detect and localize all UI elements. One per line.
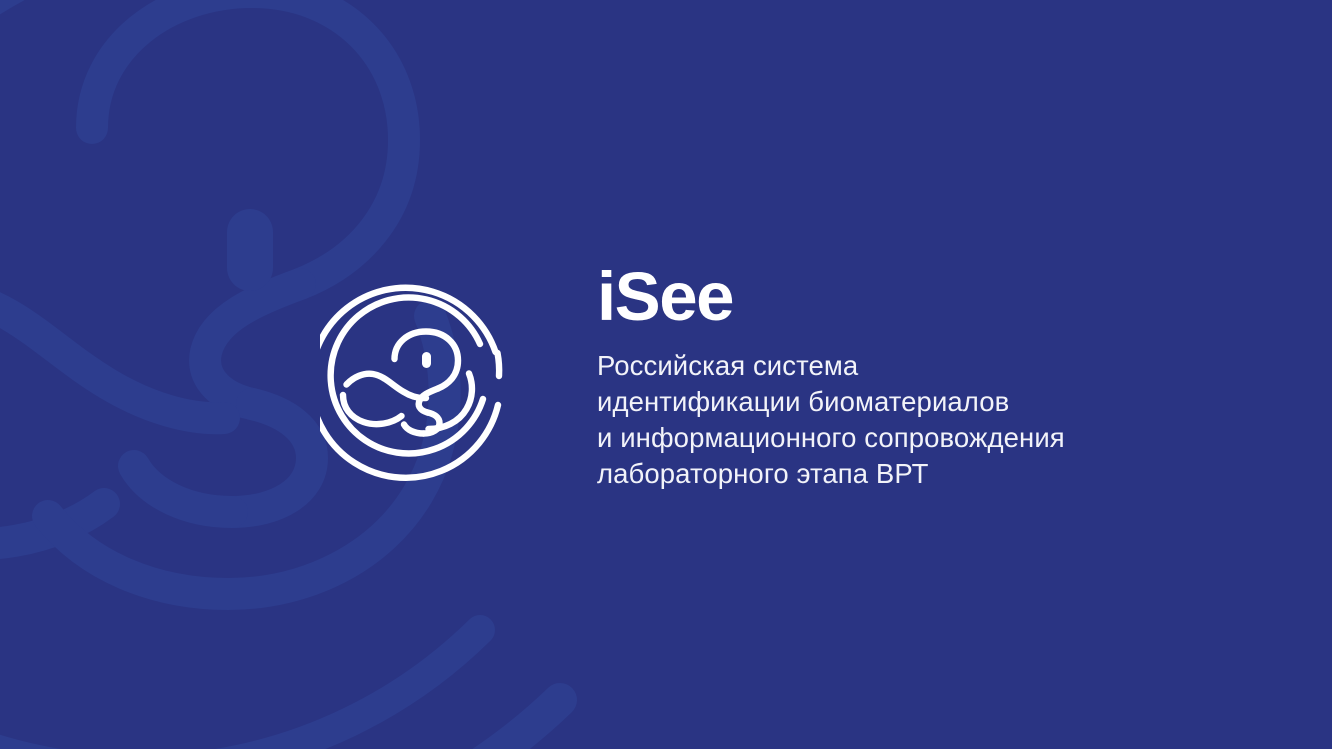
brand-text-block: iSee Российская система идентификации би… xyxy=(597,262,1217,492)
logo-outer-ring-segment xyxy=(498,353,500,376)
tagline-line-3: и информационного сопровождения xyxy=(597,420,1217,456)
tagline-line-1: Российская система xyxy=(597,348,1217,384)
tagline-line-4: лабораторного этапа ВРТ xyxy=(597,456,1217,492)
logo-embryo-body xyxy=(395,332,459,434)
logo-embryo-arm xyxy=(343,374,426,424)
watermark-embryo-arm xyxy=(0,294,224,544)
tagline-line-2: идентификации биоматериалов xyxy=(597,384,1217,420)
tagline-block: Российская система идентификации биомате… xyxy=(597,348,1217,492)
embryo-in-circle-logo xyxy=(320,283,524,487)
title-slide: iSee Российская система идентификации би… xyxy=(0,0,1332,749)
brand-wordmark: iSee xyxy=(597,262,1217,331)
